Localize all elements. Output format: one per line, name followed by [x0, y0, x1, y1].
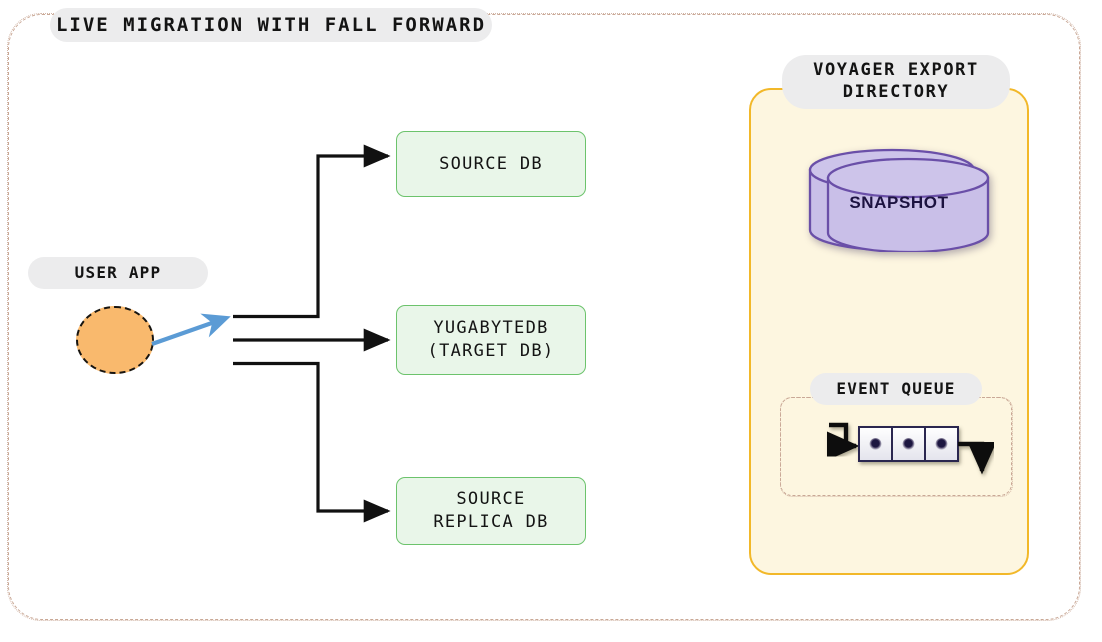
queue-item-dot-icon [903, 438, 915, 450]
diagram-canvas: LIVE MIGRATION WITH FALL FORWARD USER AP… [0, 0, 1102, 642]
user-app-label: USER APP [28, 257, 208, 289]
queue-cells [859, 427, 958, 461]
orange-circle-icon [76, 306, 154, 374]
arrow-out-of-queue-icon [958, 444, 982, 471]
database-cylinder-icon: SNAPSHOT [806, 148, 992, 252]
db-box-replica-db[interactable]: SOURCE REPLICA DB [396, 477, 586, 545]
db-box-source-db[interactable]: SOURCE DB [396, 131, 586, 197]
queue-icon [812, 405, 1012, 495]
voyager-export-directory-label: VOYAGER EXPORT DIRECTORY [782, 55, 1010, 109]
queue-item-dot-icon [870, 438, 882, 450]
snapshot-label: SNAPSHOT [806, 148, 992, 252]
db-box-target-db[interactable]: YUGABYTEDB (TARGET DB) [396, 305, 586, 375]
event-queue-label: EVENT QUEUE [810, 373, 982, 405]
arrow-into-queue-icon [829, 425, 856, 446]
page-title: LIVE MIGRATION WITH FALL FORWARD [50, 8, 492, 42]
queue-item-dot-icon [936, 438, 948, 450]
